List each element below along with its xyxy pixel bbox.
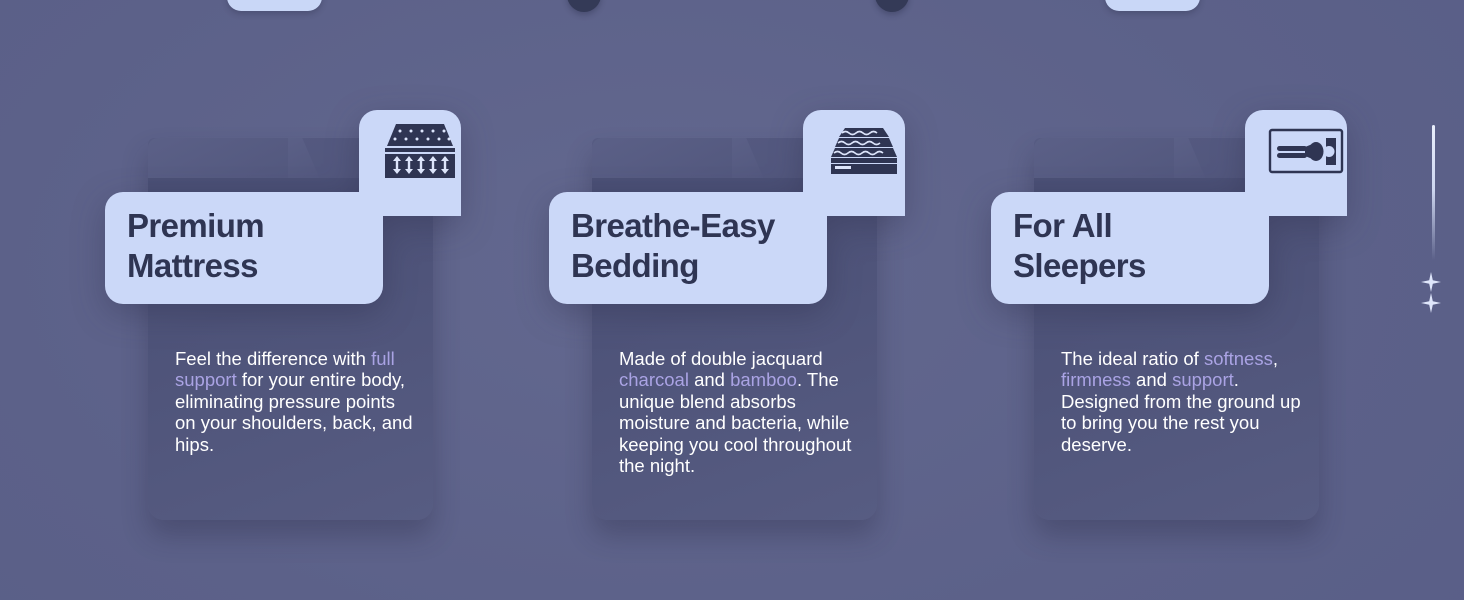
folder-label-plate: Breathe-Easy Bedding (549, 110, 905, 310)
folder-label-plate: For All Sleepers (991, 110, 1347, 310)
top-fragment-chip-left (227, 0, 322, 11)
feature-card-breathe-easy-bedding[interactable]: Breathe-Easy Bedding Made of double jacq… (549, 110, 849, 522)
card-title: Breathe-Easy Bedding (571, 206, 821, 286)
card-description: Made of double jacquard charcoal and bam… (619, 348, 859, 477)
sparkle-icon (1421, 272, 1441, 292)
sparkle-icon (1421, 293, 1441, 313)
card-title-line-1: Breathe-Easy (571, 206, 821, 246)
highlighted-term: firmness (1061, 369, 1131, 390)
folder-label-plate: Premium Mattress (105, 110, 461, 310)
card-title: Premium Mattress (127, 206, 377, 286)
highlighted-term: charcoal (619, 369, 689, 390)
top-fragment-chip-right (1105, 0, 1200, 11)
feature-card-for-all-sleepers[interactable]: For All Sleepers The ideal ratio of soft… (991, 110, 1291, 522)
card-description: The ideal ratio of softness, firmness an… (1061, 348, 1301, 455)
highlighted-term: softness (1204, 348, 1273, 369)
highlighted-term: bamboo (730, 369, 797, 390)
highlighted-term: support (1172, 369, 1234, 390)
card-description: Feel the difference with full support fo… (175, 348, 415, 455)
layered-mattress-icon (823, 110, 905, 192)
vertical-divider-line (1432, 125, 1435, 260)
feature-card-premium-mattress[interactable]: Premium Mattress Feel the difference wit… (105, 110, 405, 522)
card-title-line-2: Mattress (127, 246, 377, 286)
card-title-line-1: Premium (127, 206, 377, 246)
card-title: For All Sleepers (1013, 206, 1263, 286)
top-fragment-dot-right (875, 0, 909, 12)
mattress-springs-icon (379, 110, 461, 192)
person-sleeping-in-bed-icon (1265, 110, 1347, 192)
card-title-line-1: For All (1013, 206, 1263, 246)
card-title-line-2: Sleepers (1013, 246, 1263, 286)
top-fragment-dot-left (567, 0, 601, 12)
page-canvas: Premium Mattress Feel the difference wit… (0, 0, 1464, 600)
card-title-line-2: Bedding (571, 246, 821, 286)
